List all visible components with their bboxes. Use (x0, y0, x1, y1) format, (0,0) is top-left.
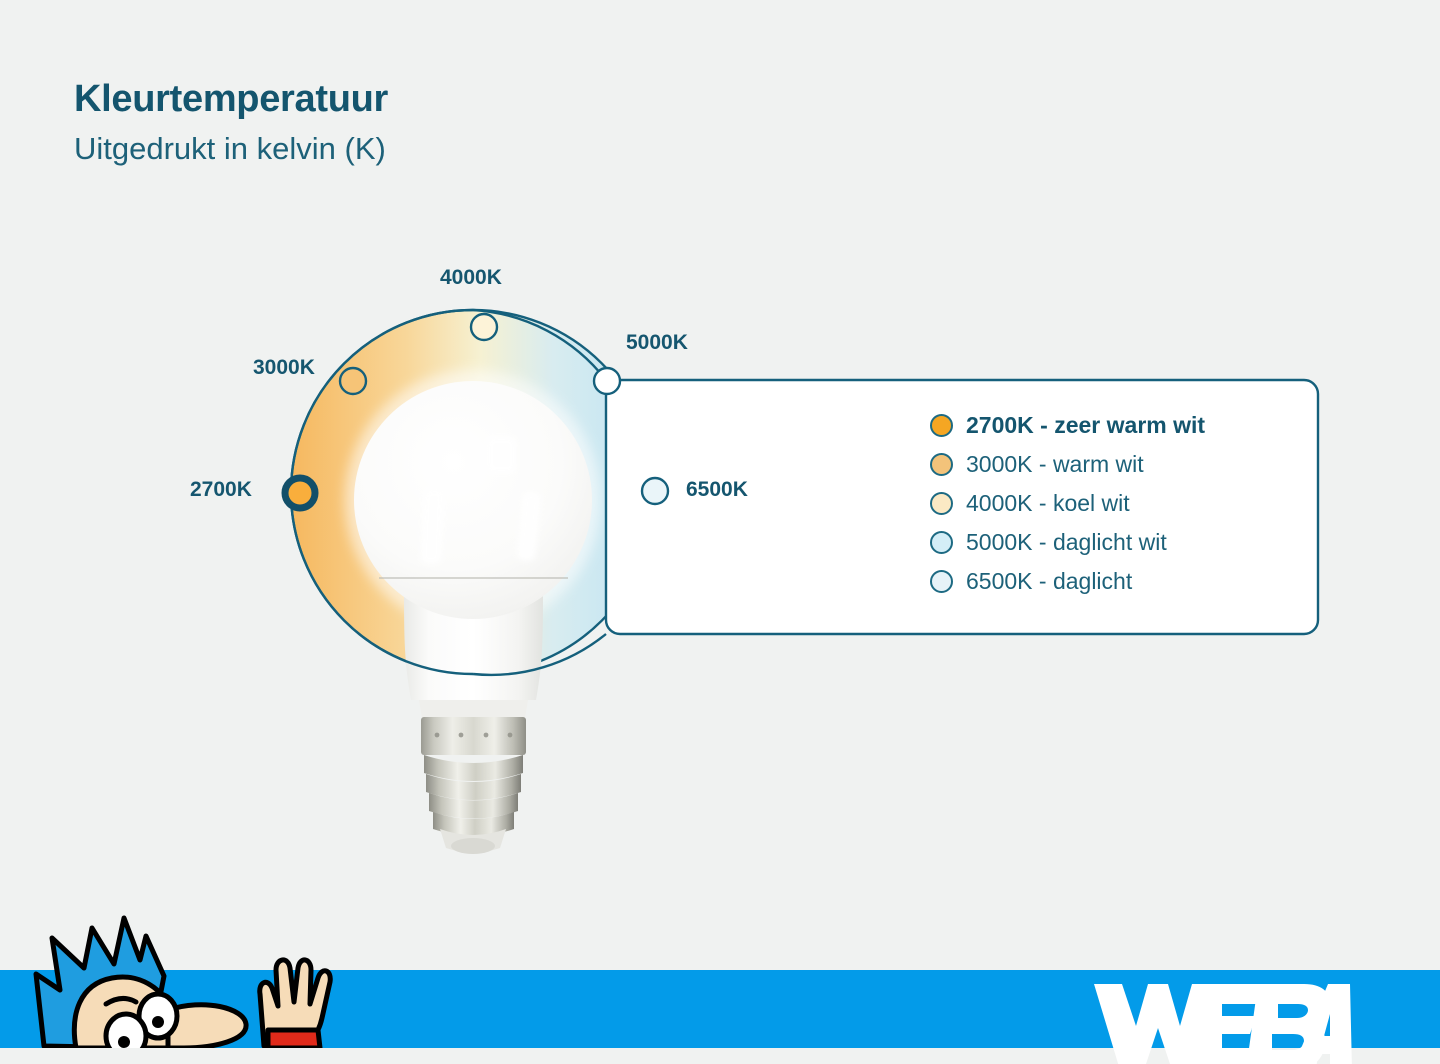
legend-dot-6500k (930, 570, 953, 593)
arc-label-2700k: 2700K (190, 478, 252, 502)
legend-dot-3000k (930, 453, 953, 476)
legend-item-6500k[interactable]: 6500K - daglicht (930, 562, 1205, 601)
arc-label-4000k: 4000K (440, 266, 502, 290)
arc-label-5000k: 5000K (626, 331, 688, 355)
mascot-sleeve (268, 1030, 320, 1048)
mascot-nose (168, 1005, 246, 1048)
legend-item-2700k[interactable]: 2700K - zeer warm wit (930, 406, 1205, 445)
legend-label-6500k: 6500K - daglicht (966, 568, 1132, 595)
marker-2700k-selected[interactable] (285, 478, 315, 508)
legend-label-2700k: 2700K - zeer warm wit (966, 412, 1205, 439)
legend-dot-2700k (930, 414, 953, 437)
weba-mascot (18, 898, 348, 1048)
legend-list: 2700K - zeer warm wit 3000K - warm wit 4… (930, 406, 1205, 601)
legend-label-4000k: 4000K - koel wit (966, 490, 1130, 517)
marker-3000k[interactable] (340, 368, 366, 394)
legend-label-3000k: 3000K - warm wit (966, 451, 1144, 478)
legend-dot-5000k (930, 531, 953, 554)
legend-item-3000k[interactable]: 3000K - warm wit (930, 445, 1205, 484)
mascot-pupil-left (118, 1036, 130, 1048)
legend-label-5000k: 5000K - daglicht wit (966, 529, 1167, 556)
legend-item-5000k[interactable]: 5000K - daglicht wit (930, 523, 1205, 562)
marker-4000k[interactable] (471, 314, 497, 340)
arc-label-3000k: 3000K (253, 356, 315, 380)
color-temperature-diagram: 2700K 3000K 4000K 5000K 6500K 2700K - ze… (0, 0, 1440, 960)
legend-dot-4000k (930, 492, 953, 515)
legend-panel: 2700K - zeer warm wit 3000K - warm wit 4… (606, 380, 1318, 634)
bulb-screw-thread (424, 755, 523, 836)
legend-item-4000k[interactable]: 4000K - koel wit (930, 484, 1205, 523)
weba-logo (1092, 978, 1352, 1064)
mascot-pupil-right (152, 1016, 164, 1028)
